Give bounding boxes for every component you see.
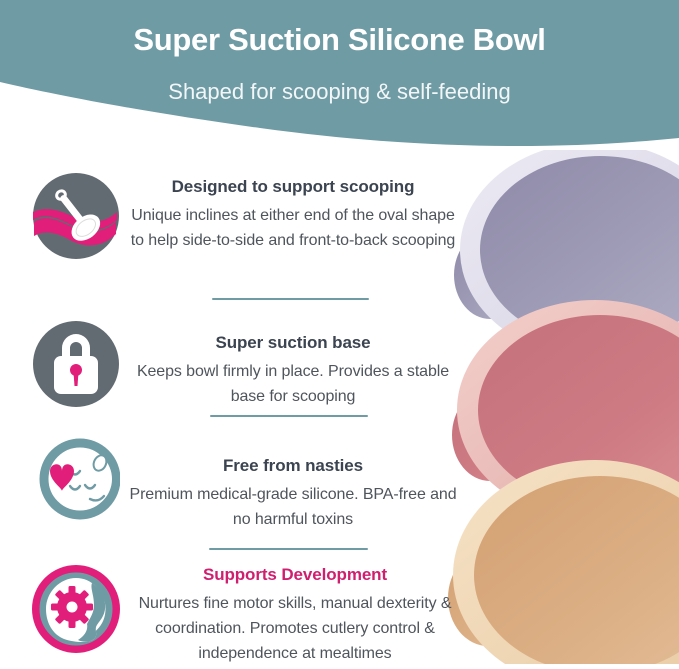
- feature-title: Designed to support scooping: [128, 176, 458, 198]
- feature-title: Free from nasties: [128, 455, 458, 477]
- feature-divider: [210, 415, 368, 417]
- feature-text: Designed to support scooping Unique incl…: [128, 176, 458, 253]
- feature-body: Nurtures fine motor skills, manual dexte…: [120, 591, 470, 666]
- feature-body: Unique inclines at either end of the ova…: [128, 203, 458, 253]
- feature-divider: [212, 298, 369, 300]
- feature-text: Supports Development Nurtures fine motor…: [120, 564, 470, 666]
- page-title: Super Suction Silicone Bowl: [0, 21, 679, 59]
- feature-body: Keeps bowl firmly in place. Provides a s…: [128, 359, 458, 409]
- head-with-gear-icon: [32, 565, 120, 653]
- feature-divider: [209, 548, 368, 550]
- page-subtitle: Shaped for scooping & self-feeding: [0, 78, 679, 106]
- bowl-with-spoon-icon: [32, 172, 120, 260]
- feature-title: Supports Development: [120, 564, 470, 586]
- tan-bowl: [448, 460, 679, 664]
- feature-title: Super suction base: [128, 332, 458, 354]
- feature-text: Super suction base Keeps bowl firmly in …: [128, 332, 458, 409]
- padlock-icon: [32, 320, 120, 408]
- feature-body: Premium medical-grade silicone. BPA-free…: [128, 482, 458, 532]
- baby-face-with-heart-icon: [32, 435, 120, 523]
- feature-text: Free from nasties Premium medical-grade …: [128, 455, 458, 532]
